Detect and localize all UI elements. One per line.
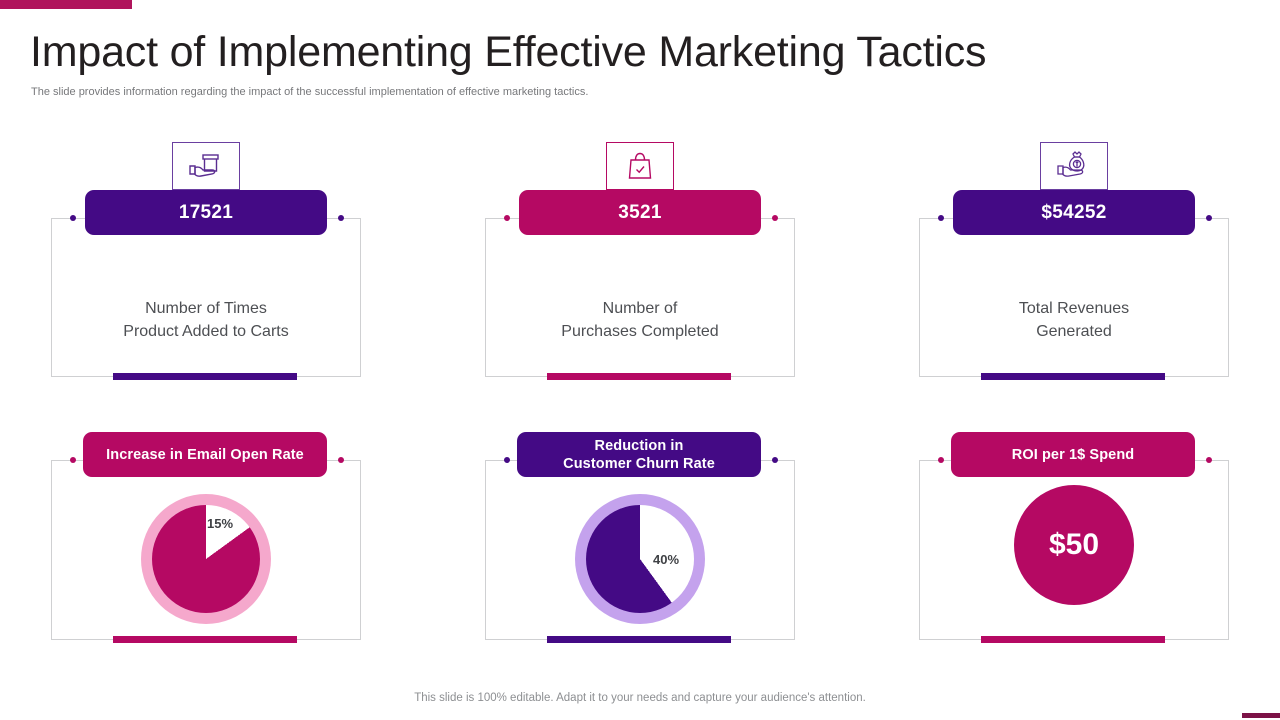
connector-dot-left bbox=[504, 215, 510, 221]
shopping-bag-check-icon bbox=[624, 149, 656, 183]
connector-dot-left bbox=[938, 457, 944, 463]
metric-caption: Number of Times Product Added to Carts bbox=[52, 297, 360, 343]
metric-value: 3521 bbox=[618, 202, 661, 224]
metric-value-pill-product-added-to-carts[interactable]: 17521 bbox=[85, 190, 327, 235]
metric-caption-line-1: Total Revenues bbox=[920, 297, 1228, 320]
metric-caption-line-1: Number of bbox=[486, 297, 794, 320]
top-left-accent-bar bbox=[0, 0, 132, 9]
metric-caption: Number of Purchases Completed bbox=[486, 297, 794, 343]
pie-chart-customer-churn-rate: 40% bbox=[575, 494, 705, 624]
card-body: Total Revenues Generated bbox=[920, 219, 1228, 376]
connector-dot-right bbox=[772, 215, 778, 221]
card-body: Number of Purchases Completed bbox=[486, 219, 794, 376]
card-underline-bar bbox=[547, 373, 731, 380]
chart-label-pill-email-open-rate[interactable]: Increase in Email Open Rate bbox=[83, 432, 327, 477]
chart-label-line-2: Customer Churn Rate bbox=[563, 455, 715, 473]
card-underline-bar bbox=[981, 373, 1165, 380]
connector-dot-right bbox=[338, 215, 344, 221]
shopping-bag-check-icon-chip bbox=[606, 142, 674, 190]
chart-label-line-1: Increase in Email Open Rate bbox=[106, 446, 304, 464]
connector-dot-left bbox=[504, 457, 510, 463]
roi-value-bubble: $50 bbox=[1014, 485, 1134, 605]
connector-dot-right bbox=[1206, 215, 1212, 221]
connector-dot-right bbox=[1206, 457, 1212, 463]
metric-card-product-added-to-carts[interactable]: Number of Times Product Added to Carts bbox=[51, 218, 361, 377]
metric-value-pill-purchases-completed[interactable]: 3521 bbox=[519, 190, 761, 235]
metric-caption-line-2: Purchases Completed bbox=[486, 320, 794, 343]
card-underline-bar bbox=[981, 636, 1165, 643]
metric-caption-line-2: Product Added to Carts bbox=[52, 320, 360, 343]
metric-value-pill-total-revenues[interactable]: $54252 bbox=[953, 190, 1195, 235]
connector-dot-left bbox=[938, 215, 944, 221]
hand-holding-box-icon-chip bbox=[172, 142, 240, 190]
card-underline-bar bbox=[547, 636, 731, 643]
chart-label-pill-roi-per-dollar[interactable]: ROI per 1$ Spend bbox=[951, 432, 1195, 477]
chart-label-pill-customer-churn-rate[interactable]: Reduction in Customer Churn Rate bbox=[517, 432, 761, 477]
bottom-right-accent-bar bbox=[1242, 713, 1280, 718]
connector-dot-left bbox=[70, 457, 76, 463]
metric-caption-line-1: Number of Times bbox=[52, 297, 360, 320]
metric-value: 17521 bbox=[179, 202, 233, 224]
page-title: Impact of Implementing Effective Marketi… bbox=[30, 26, 986, 78]
connector-dot-right bbox=[772, 457, 778, 463]
metric-card-total-revenues[interactable]: Total Revenues Generated bbox=[919, 218, 1229, 377]
footer-note: This slide is 100% editable. Adapt it to… bbox=[0, 692, 1280, 704]
card-underline-bar bbox=[113, 373, 297, 380]
metric-caption-line-2: Generated bbox=[920, 320, 1228, 343]
connector-dot-right bbox=[338, 457, 344, 463]
hand-holding-money-bag-icon-chip bbox=[1040, 142, 1108, 190]
hand-holding-box-icon bbox=[186, 150, 226, 182]
hand-holding-money-bag-icon bbox=[1054, 150, 1094, 182]
pie-percent-label: 40% bbox=[653, 552, 679, 567]
card-underline-bar bbox=[113, 636, 297, 643]
pie-percent-label: 15% bbox=[207, 516, 233, 531]
card-body: Number of Times Product Added to Carts bbox=[52, 219, 360, 376]
chart-label-line-1: Reduction in bbox=[563, 437, 715, 455]
pie-disc bbox=[152, 505, 260, 613]
pie-chart-email-open-rate: 15% bbox=[141, 494, 271, 624]
metric-caption: Total Revenues Generated bbox=[920, 297, 1228, 343]
metric-value: $54252 bbox=[1041, 202, 1106, 224]
chart-label-line-1: ROI per 1$ Spend bbox=[1012, 446, 1134, 464]
connector-dot-left bbox=[70, 215, 76, 221]
roi-value: $50 bbox=[1049, 528, 1099, 562]
page-subtitle: The slide provides information regarding… bbox=[31, 85, 588, 100]
metric-card-purchases-completed[interactable]: Number of Purchases Completed bbox=[485, 218, 795, 377]
